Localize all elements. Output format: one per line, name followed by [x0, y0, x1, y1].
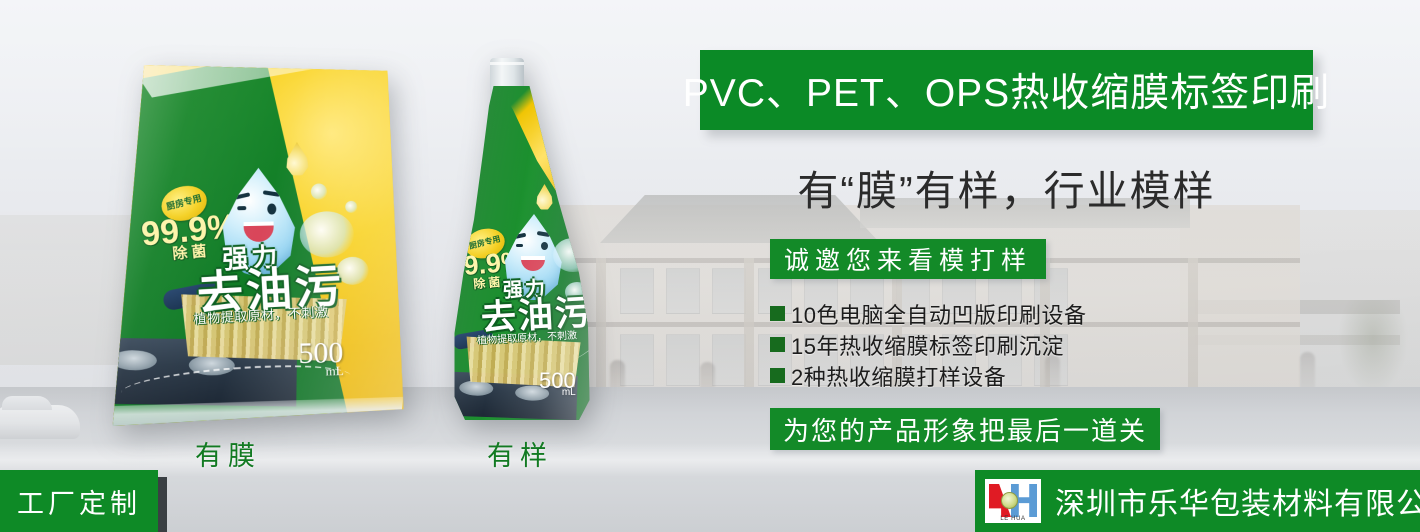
square-bullet-icon	[770, 368, 785, 383]
product-showcase: 厨房专用 99.9% 除菌	[0, 0, 660, 470]
list-item: 2种热收缩膜打样设备	[770, 360, 1190, 391]
logo-circle-shape	[1001, 492, 1018, 509]
mascot-eye-left	[516, 244, 523, 247]
factory-custom-tag: 工厂定制	[0, 470, 158, 532]
list-item-label: 2种热收缩膜打样设备	[791, 360, 1006, 392]
company-footer-bar: LE HUA 深圳市乐华包装材料有限公司	[975, 470, 1420, 532]
list-item-label: 15年热收缩膜标签印刷沉淀	[791, 329, 1064, 361]
pouch-body: 厨房专用 99.9% 除菌	[96, 60, 403, 426]
factory-tag-shadow	[158, 477, 167, 532]
mascot-eye-right	[267, 203, 276, 214]
list-item: 15年热收缩膜标签印刷沉淀	[770, 329, 1190, 360]
water-splash	[553, 238, 593, 272]
invite-tag: 诚邀您来看模打样	[770, 239, 1046, 279]
square-bullet-icon	[770, 337, 785, 352]
invite-tag-label: 诚邀您来看模打样	[784, 241, 1032, 277]
stove-burner	[111, 350, 157, 371]
list-item-label: 10色电脑全自动凹版印刷设备	[791, 298, 1086, 330]
headline-banner: PVC、PET、OPS热收缩膜标签印刷	[700, 50, 1313, 130]
mascot-eye-left	[237, 206, 246, 210]
promise-tag-label: 为您的产品形象把最后一道关	[783, 411, 1147, 448]
mascot-mouth	[521, 256, 545, 271]
square-bullet-icon	[770, 306, 785, 321]
product-flat-film-label: 厨房专用 99.9% 除菌	[96, 60, 403, 426]
company-name: 深圳市乐华包装材料有限公司	[1055, 479, 1420, 523]
headline-text: PVC、PET、OPS热收缩膜标签印刷	[683, 62, 1330, 118]
list-item: 10色电脑全自动凹版印刷设备	[770, 298, 1190, 329]
feature-list: 10色电脑全自动凹版印刷设备 15年热收缩膜标签印刷沉淀 2种热收缩膜打样设备	[770, 298, 1190, 391]
promise-tag: 为您的产品形象把最后一道关	[770, 408, 1160, 450]
bottle-body: 厨房专用 99.9% 除菌	[447, 86, 597, 420]
volume-mark: 500 mL	[539, 368, 576, 398]
mascot-mouth	[244, 222, 274, 243]
mascot-eye-right	[541, 242, 548, 250]
logo-wordmark: LE HUA	[985, 516, 1041, 522]
caption-film: 有膜	[195, 434, 261, 473]
promo-banner: 厨房专用 99.9% 除菌	[0, 0, 1420, 532]
subtitle-text: 有“膜”有样，行业模样	[700, 157, 1313, 217]
caption-bottle: 有样	[487, 434, 553, 473]
factory-tag-label: 工厂定制	[17, 482, 141, 521]
product-shrink-sleeve-bottle: 厨房专用 99.9% 除菌	[447, 58, 597, 420]
lehua-logo-icon: LE HUA	[985, 479, 1041, 523]
